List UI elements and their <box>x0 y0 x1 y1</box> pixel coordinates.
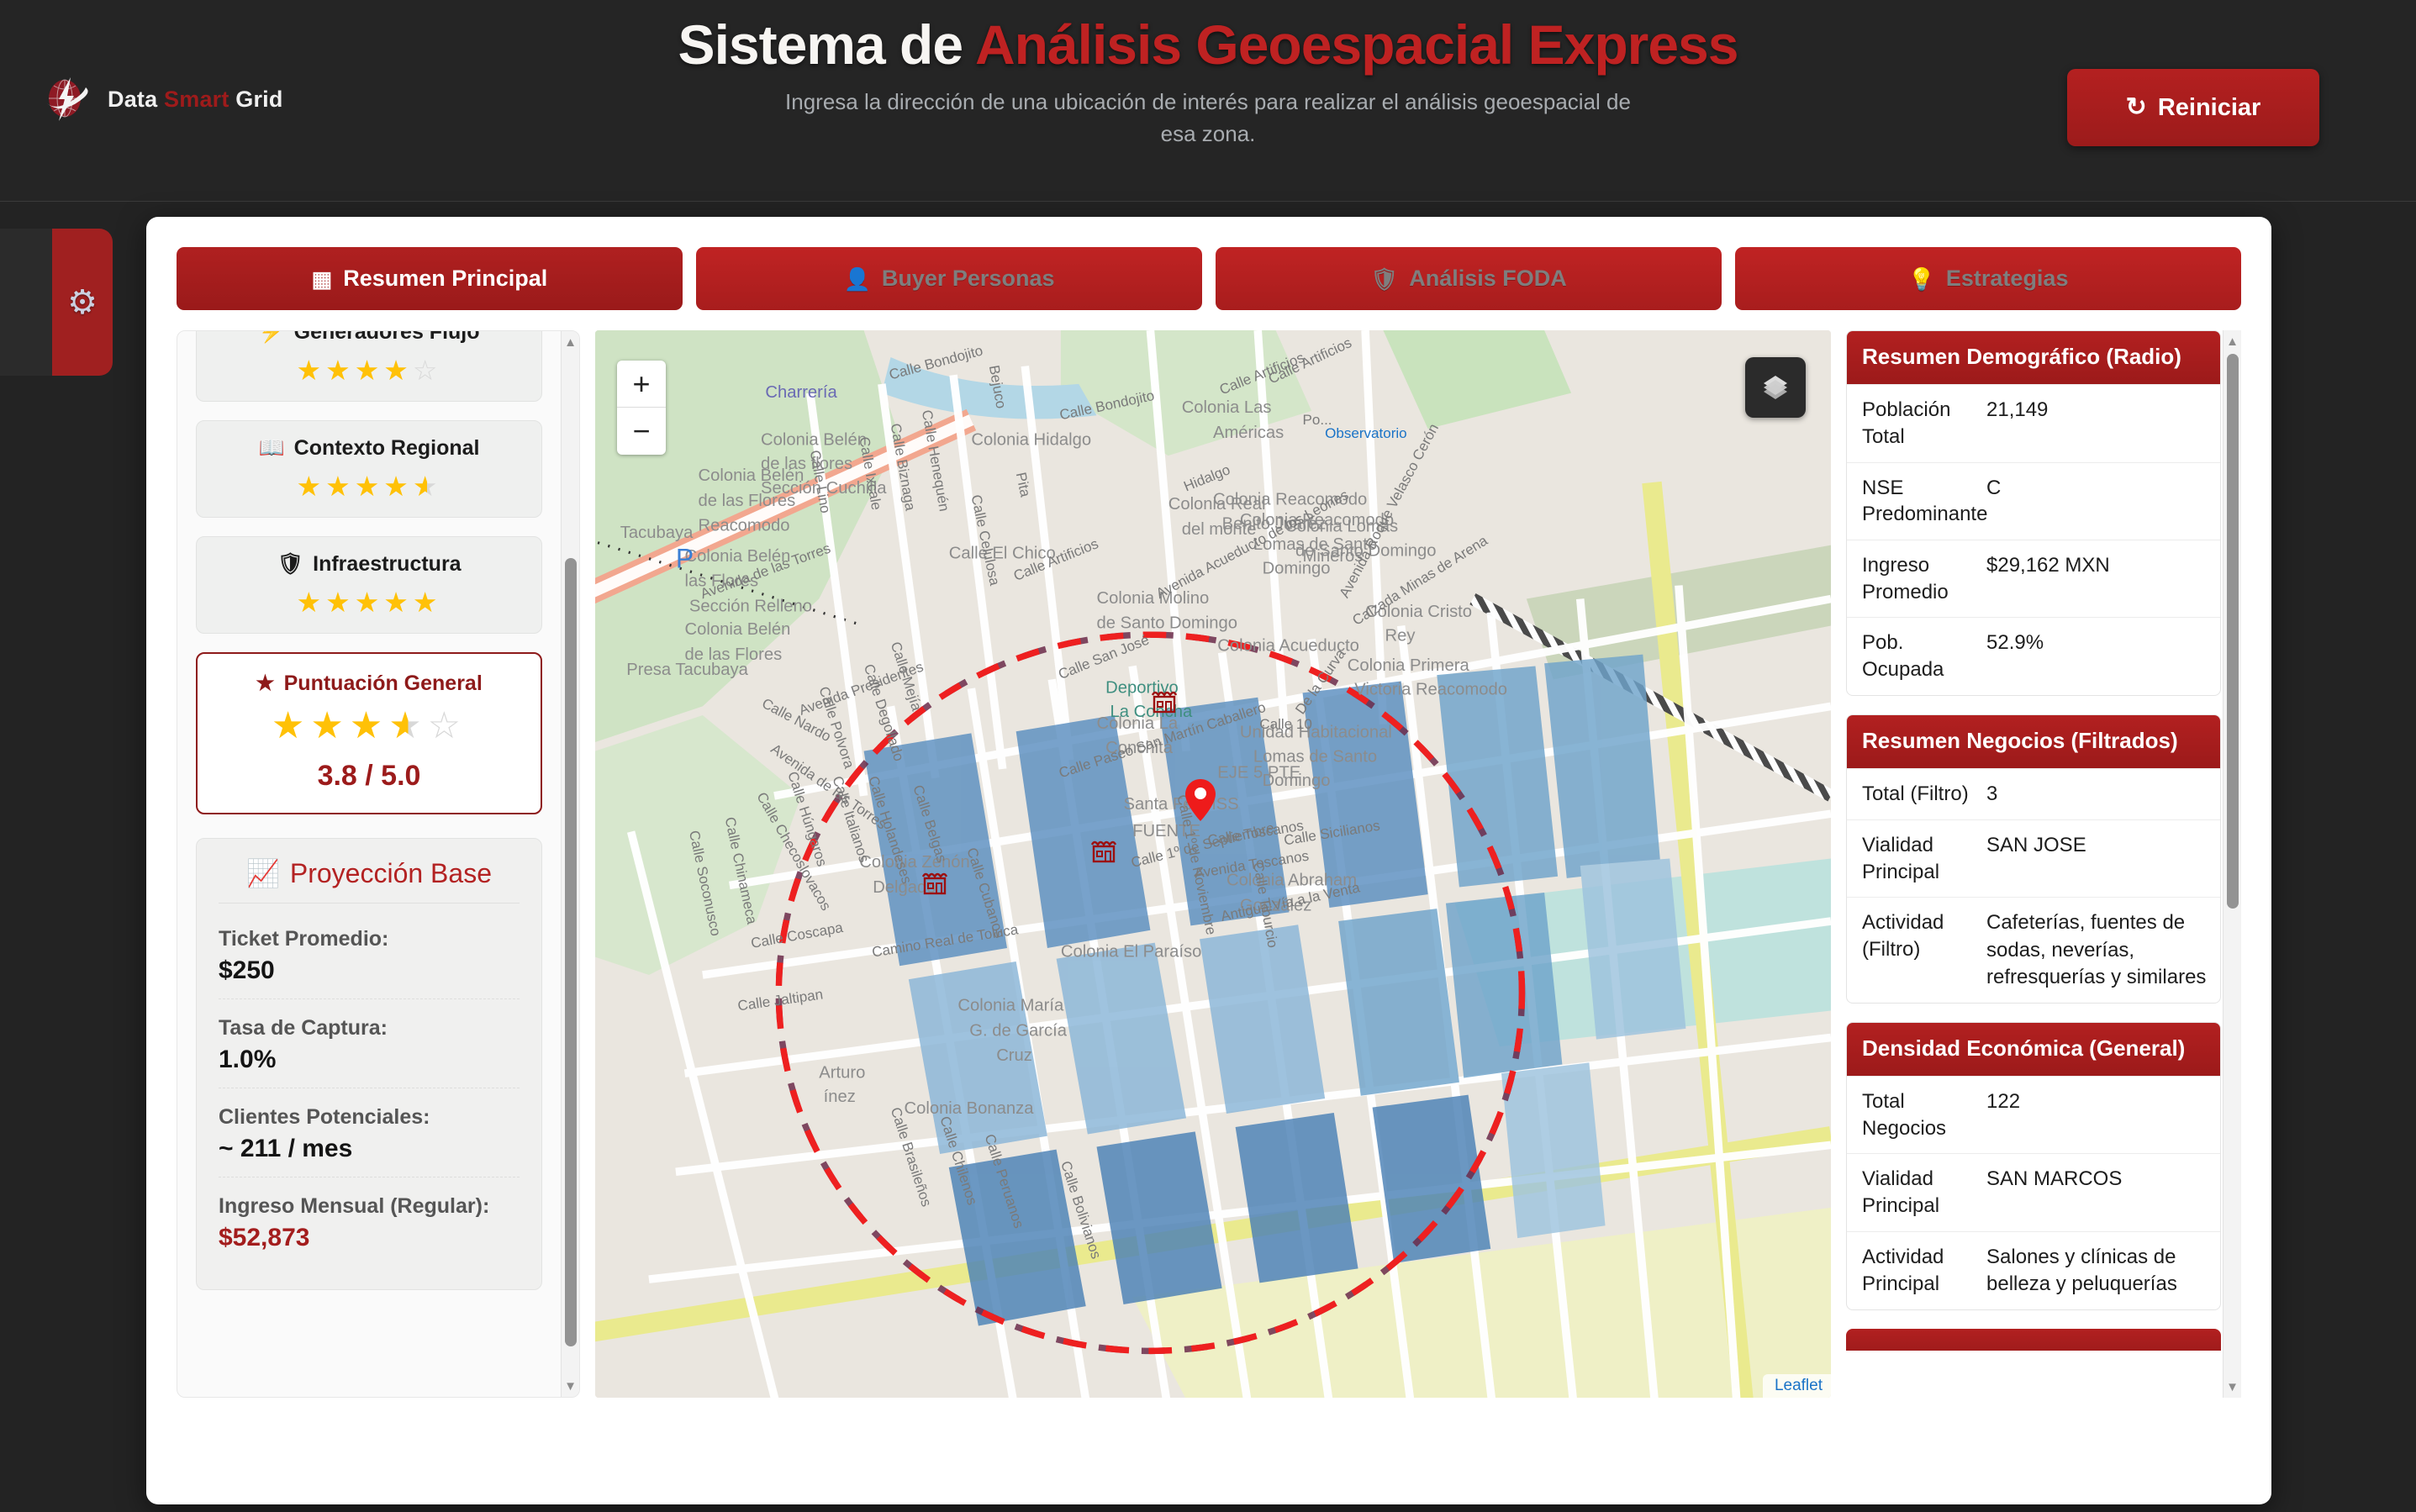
svg-text:Calle 10: Calle 10 <box>1259 716 1312 732</box>
book-icon: 📖 <box>259 436 285 461</box>
app-header: Data Smart Grid Sistema de Análisis Geoe… <box>0 0 2416 202</box>
table-row: Población Total 21,149 <box>1847 384 2220 461</box>
svg-text:Reacomodo: Reacomodo <box>698 517 789 535</box>
row-key: Actividad Principal <box>1847 1232 1981 1309</box>
map-pin-icon[interactable] <box>1185 779 1216 821</box>
row-value: SAN JOSE <box>1981 820 2220 897</box>
row-key: Total (Filtro) <box>1847 769 1981 819</box>
right-scrollbar[interactable]: ▲ ▼ <box>2223 330 2241 1398</box>
svg-text:Domingo: Domingo <box>1263 560 1331 578</box>
dashboard-icon: ▦ <box>312 268 333 290</box>
row-key: NSE Predominante <box>1847 463 1981 540</box>
panel-title: Resumen Demográfico (Radio) <box>1847 331 2220 384</box>
row-value: SAN MARCOS <box>1981 1154 2220 1230</box>
tab-analisis-foda[interactable]: 🛡 Análisis FODA <box>1216 247 1722 310</box>
store-icon[interactable] <box>1089 837 1118 864</box>
store-icon[interactable] <box>1150 688 1179 714</box>
svg-text:EJE 5 PTE: EJE 5 PTE <box>1217 764 1300 782</box>
score-card-contexto-regional: 📖 Contexto Regional ★★★★★ <box>196 420 542 518</box>
projection-row-label: Tasa de Captura: <box>219 1016 520 1040</box>
projection-row-value: ~ 211 / mes <box>219 1135 520 1163</box>
tab-resumen-principal[interactable]: ▦ Resumen Principal <box>177 247 683 310</box>
svg-text:de Santo Domingo: de Santo Domingo <box>1097 614 1237 633</box>
tab-label: Análisis FODA <box>1409 266 1567 292</box>
projection-row: Tasa de Captura: 1.0% <box>219 1011 520 1088</box>
panel-next-clipped <box>1846 1329 2221 1351</box>
page-title: Sistema de Análisis Geoespacial Express <box>0 15 2416 75</box>
row-value: $29,162 MXN <box>1981 540 2220 617</box>
row-value: C <box>1981 463 2220 540</box>
tab-estrategias[interactable]: 💡 Estrategias <box>1735 247 2241 310</box>
svg-text:Colonia Bonanza: Colonia Bonanza <box>904 1099 1034 1118</box>
svg-text:Colonia Molino: Colonia Molino <box>1097 589 1210 608</box>
summary-scroll-viewport: Resumen Demográfico (Radio) Población To… <box>1846 330 2221 1398</box>
panel-densidad-economica: Densidad Económica (General) Total Negoc… <box>1846 1022 2221 1310</box>
scrollbar-thumb[interactable] <box>2227 354 2239 909</box>
row-value: Salones y clínicas de belleza y peluquer… <box>1981 1232 2220 1309</box>
row-value: 122 <box>1981 1077 2220 1153</box>
svg-text:Cruz: Cruz <box>996 1046 1032 1065</box>
table-row: Vialidad Principal SAN JOSE <box>1847 819 2220 897</box>
map-container[interactable]: Charrería Colonia Belénde las flores Sec… <box>595 330 1831 1398</box>
tab-bar: ▦ Resumen Principal 👤 Buyer Personas 🛡 A… <box>177 247 2241 310</box>
tab-label: Resumen Principal <box>343 266 547 292</box>
score-card-title: 🛡 Infraestructura <box>208 552 530 577</box>
svg-text:Américas: Américas <box>1213 424 1284 442</box>
svg-text:Charrería: Charrería <box>765 383 837 402</box>
svg-text:Colonia Belén: Colonia Belén <box>761 430 867 449</box>
svg-text:Colonia Zenón: Colonia Zenón <box>859 853 970 872</box>
svg-text:Colonia Belén: Colonia Belén <box>685 620 791 639</box>
svg-text:Po...: Po... <box>1303 412 1332 428</box>
overall-score-value: 3.8 / 5.0 <box>209 760 529 793</box>
refresh-icon: ↻ <box>2126 95 2147 120</box>
table-row: Vialidad Principal SAN MARCOS <box>1847 1153 2220 1230</box>
scrollbar-thumb[interactable] <box>565 558 577 1346</box>
store-icon[interactable] <box>921 869 949 896</box>
svg-text:Victoria Reacomodo: Victoria Reacomodo <box>1354 681 1507 699</box>
score-card-infraestructura: 🛡 Infraestructura ★★★★★ <box>196 536 542 634</box>
projection-row: Clientes Potenciales: ~ 211 / mes <box>219 1100 520 1177</box>
svg-text:Tacubaya: Tacubaya <box>620 524 694 542</box>
main-panel: ▦ Resumen Principal 👤 Buyer Personas 🛡 A… <box>146 217 2271 1504</box>
scroll-down-arrow-icon[interactable]: ▼ <box>2223 1378 2241 1396</box>
panel-resumen-negocios: Resumen Negocios (Filtrados) Total (Filt… <box>1846 714 2221 1004</box>
page-subtitle: Ingresa la dirección de una ubicación de… <box>775 87 1641 150</box>
score-card-label: Generadores Flujo <box>294 331 480 345</box>
shield-check-icon: 🛡 <box>277 552 303 577</box>
table-row: Total Negocios 122 <box>1847 1076 2220 1153</box>
row-value: 3 <box>1981 769 2220 819</box>
row-key: Actividad (Filtro) <box>1847 898 1981 1002</box>
star-rating: ★★★★★ <box>208 472 530 500</box>
row-key: Vialidad Principal <box>1847 820 1981 897</box>
scores-scroll-viewport: ⚡ Generadores Flujo ★★★★☆ 📖 Contexto Reg… <box>177 331 561 1397</box>
projection-row: Ingreso Mensual (Regular): $52,873 <box>219 1189 520 1266</box>
svg-text:Rey: Rey <box>1385 627 1416 645</box>
overall-score-label: Puntuación General <box>284 672 483 696</box>
projection-row: Ticket Promedio: $250 <box>219 922 520 999</box>
gear-icon: ⚙ <box>67 286 98 319</box>
lightbulb-icon: 💡 <box>1908 268 1935 290</box>
svg-text:Presa Tacubaya: Presa Tacubaya <box>626 661 748 679</box>
panel-title: Resumen Negocios (Filtrados) <box>1847 715 2220 768</box>
shield-icon: 🛡 <box>1370 268 1398 290</box>
trend-up-icon: 📈 <box>246 857 280 889</box>
tab-buyer-personas[interactable]: 👤 Buyer Personas <box>696 247 1202 310</box>
svg-text:ínez: ínez <box>824 1088 856 1106</box>
tab-label: Buyer Personas <box>882 266 1055 292</box>
star-icon: ★ <box>256 671 274 696</box>
star-rating: ★★★★★ <box>208 588 530 616</box>
row-value: 21,149 <box>1981 385 2220 461</box>
row-key: Población Total <box>1847 385 1981 461</box>
layers-icon <box>1759 371 1792 404</box>
table-row: Actividad (Filtro) Cafeterías, fuentes d… <box>1847 897 2220 1002</box>
svg-text:de las Flores: de las Flores <box>698 492 795 510</box>
score-card-title: ⚡ Generadores Flujo <box>208 331 530 345</box>
projection-row-label: Ingreso Mensual (Regular): <box>219 1194 520 1219</box>
svg-text:G. de García: G. de García <box>969 1021 1067 1040</box>
tab-content: ⚡ Generadores Flujo ★★★★☆ 📖 Contexto Reg… <box>177 330 2241 1398</box>
map-attribution[interactable]: Leaflet <box>1763 1374 1831 1398</box>
tab-label: Estrategias <box>1946 266 2069 292</box>
projection-row-value: $250 <box>219 956 520 985</box>
row-key: Vialidad Principal <box>1847 1154 1981 1230</box>
user-icon: 👤 <box>844 268 871 290</box>
score-card-label: Infraestructura <box>313 552 461 577</box>
svg-text:Colonia El Paraíso: Colonia El Paraíso <box>1061 943 1201 961</box>
panel-title: Densidad Económica (General) <box>1847 1023 2220 1076</box>
summary-column: Resumen Demográfico (Radio) Población To… <box>1846 330 2241 1398</box>
svg-text:Observatorio: Observatorio <box>1325 425 1407 441</box>
page-title-plain: Sistema de <box>678 13 975 76</box>
overall-score-title: ★ Puntuación General <box>209 671 529 696</box>
projection-row-label: Ticket Promedio: <box>219 927 520 951</box>
reset-button[interactable]: ↻ Reiniciar <box>2067 69 2319 146</box>
svg-text:Colonia Las: Colonia Las <box>1182 398 1272 417</box>
row-key: Total Negocios <box>1847 1077 1981 1153</box>
projection-row-value: 1.0% <box>219 1046 520 1074</box>
score-card-title: 📖 Contexto Regional <box>208 436 530 461</box>
row-value: 52.9% <box>1981 618 2220 694</box>
map-layers-button[interactable] <box>1745 357 1806 418</box>
table-row: Ingreso Promedio $29,162 MXN <box>1847 540 2220 617</box>
svg-text:P: P <box>676 543 694 573</box>
projection-title-label: Proyección Base <box>290 858 492 889</box>
projection-title: 📈 Proyección Base <box>219 857 520 904</box>
left-scrollbar[interactable]: ▲ ▼ <box>561 331 579 1397</box>
table-row: Actividad Principal Salones y clínicas d… <box>1847 1231 2220 1309</box>
table-row: Total (Filtro) 3 <box>1847 768 2220 819</box>
score-card-label: Contexto Regional <box>294 436 480 461</box>
zoom-out-button[interactable]: − <box>617 408 666 455</box>
row-key: Ingreso Promedio <box>1847 540 1981 617</box>
svg-text:Colonia María: Colonia María <box>957 997 1064 1015</box>
svg-text:Arturo: Arturo <box>819 1063 865 1082</box>
settings-drawer-toggle[interactable]: ⚙ <box>52 229 113 376</box>
projection-row-label: Clientes Potenciales: <box>219 1105 520 1130</box>
panel-resumen-demografico: Resumen Demográfico (Radio) Población To… <box>1846 330 2221 696</box>
star-rating: ★★★★☆ <box>208 356 530 384</box>
row-key: Pob. Ocupada <box>1847 618 1981 694</box>
bolt-icon: ⚡ <box>258 331 284 345</box>
map-zoom-controls[interactable]: + − <box>617 361 666 455</box>
row-value: Cafeterías, fuentes de sodas, neverías, … <box>1981 898 2220 1002</box>
svg-text:Colonia Belén: Colonia Belén <box>698 466 804 485</box>
page-title-accent: Análisis Geoespacial Express <box>975 13 1738 76</box>
svg-text:Colonia Hidalgo: Colonia Hidalgo <box>971 430 1091 449</box>
title-block: Sistema de Análisis Geoespacial Express … <box>0 15 2416 150</box>
table-row: NSE Predominante C <box>1847 462 2220 540</box>
projection-card: 📈 Proyección Base Ticket Promedio: $250 … <box>196 838 542 1290</box>
overall-score-card: ★ Puntuación General ★★★★☆ 3.8 / 5.0 <box>196 652 542 814</box>
scroll-up-arrow-icon[interactable]: ▲ <box>562 333 579 351</box>
scores-column: ⚡ Generadores Flujo ★★★★☆ 📖 Contexto Reg… <box>177 330 580 1398</box>
reset-button-label: Reiniciar <box>2158 94 2261 122</box>
scroll-up-arrow-icon[interactable]: ▲ <box>2223 332 2241 350</box>
map-canvas[interactable]: Charrería Colonia Belénde las flores Sec… <box>595 330 1831 1398</box>
projection-row-value: $52,873 <box>219 1224 520 1252</box>
table-row: Pob. Ocupada 52.9% <box>1847 617 2220 694</box>
svg-text:Colonia Primera: Colonia Primera <box>1348 656 1470 675</box>
zoom-in-button[interactable]: + <box>617 361 666 408</box>
score-card-generadores-flujo: ⚡ Generadores Flujo ★★★★☆ <box>196 331 542 402</box>
overall-star-rating: ★★★★☆ <box>209 708 529 745</box>
scroll-down-arrow-icon[interactable]: ▼ <box>562 1377 579 1395</box>
